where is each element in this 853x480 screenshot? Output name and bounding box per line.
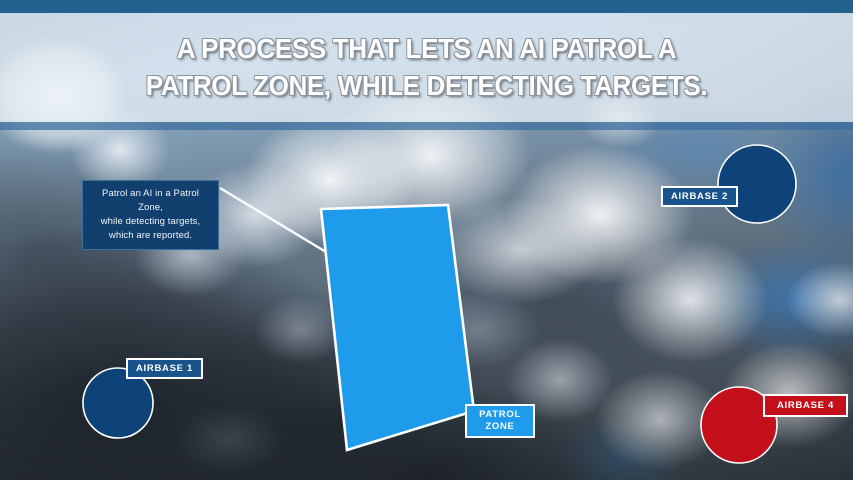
callout-leader-line: [220, 188, 326, 252]
airbase-2-marker[interactable]: [718, 145, 796, 223]
callout-box[interactable]: Patrol an AI in a Patrol Zone, while det…: [82, 180, 219, 250]
airbase-1-label[interactable]: AIRBASE 1: [126, 358, 203, 379]
slide-canvas: A PROCESS THAT LETS AN AI PATROL A PATRO…: [0, 0, 853, 480]
patrol-zone-label[interactable]: PATROL ZONE: [465, 404, 535, 438]
callout-text: Patrol an AI in a Patrol Zone, while det…: [89, 187, 212, 243]
patrol-zone-polygon[interactable]: [321, 205, 474, 450]
airbase-2-label[interactable]: AIRBASE 2: [661, 186, 738, 207]
airbase-4-label[interactable]: AIRBASE 4: [763, 394, 848, 417]
